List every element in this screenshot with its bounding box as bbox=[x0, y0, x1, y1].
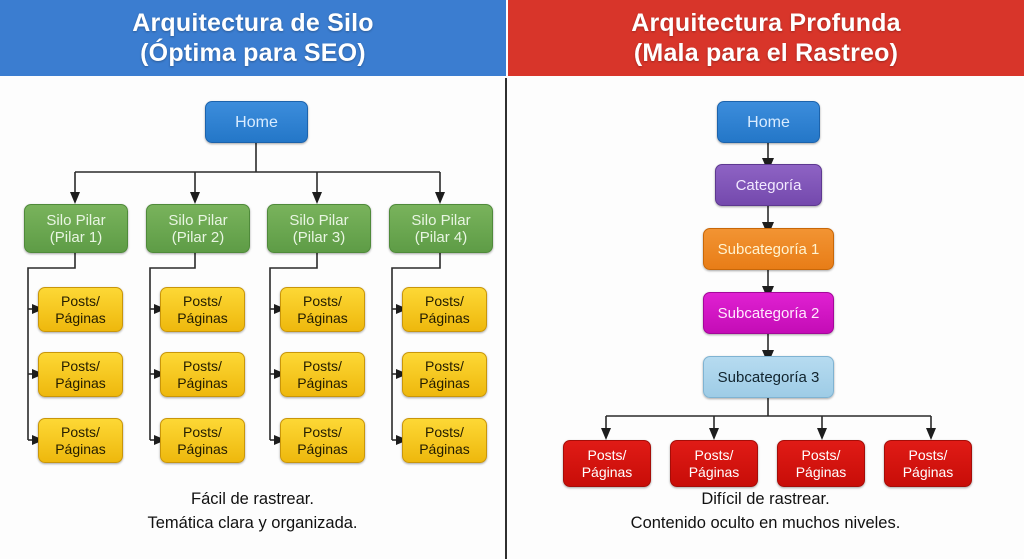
left-node-home-label: Home bbox=[235, 114, 278, 131]
silo-post-3-2-label: Posts/ Páginas bbox=[297, 358, 348, 392]
silo-post-3-2[interactable]: Posts/ Páginas bbox=[280, 352, 365, 397]
left-header-line1: Arquitectura de Silo bbox=[132, 8, 374, 38]
right-node-subcategoria-2-label: Subcategoría 2 bbox=[718, 305, 820, 322]
deep-post-4[interactable]: Posts/ Páginas bbox=[884, 440, 972, 487]
silo-post-2-2[interactable]: Posts/ Páginas bbox=[160, 352, 245, 397]
silo-post-4-2[interactable]: Posts/ Páginas bbox=[402, 352, 487, 397]
silo-post-2-3[interactable]: Posts/ Páginas bbox=[160, 418, 245, 463]
deep-post-3[interactable]: Posts/ Páginas bbox=[777, 440, 865, 487]
silo-post-4-2-label: Posts/ Páginas bbox=[419, 358, 470, 392]
left-node-home[interactable]: Home bbox=[205, 101, 308, 143]
deep-post-1-label: Posts/ Páginas bbox=[582, 447, 633, 481]
deep-architecture-panel: Home Categoría Subcategoría 1 Subcategor… bbox=[507, 78, 1024, 559]
silo-post-3-1[interactable]: Posts/ Páginas bbox=[280, 287, 365, 332]
right-header-line1: Arquitectura Profunda bbox=[631, 8, 901, 38]
silo-pillar-3-label: Silo Pilar (Pilar 3) bbox=[289, 212, 348, 246]
left-panel-caption: Fácil de rastrear. Temática clara y orga… bbox=[0, 487, 505, 535]
silo-post-1-2[interactable]: Posts/ Páginas bbox=[38, 352, 123, 397]
silo-post-1-3-label: Posts/ Páginas bbox=[55, 424, 106, 458]
silo-post-1-3[interactable]: Posts/ Páginas bbox=[38, 418, 123, 463]
left-header-line2: (Óptima para SEO) bbox=[132, 38, 374, 68]
silo-pillar-1[interactable]: Silo Pilar (Pilar 1) bbox=[24, 204, 128, 253]
silo-post-3-3-label: Posts/ Páginas bbox=[297, 424, 348, 458]
silo-pillar-4[interactable]: Silo Pilar (Pilar 4) bbox=[389, 204, 493, 253]
silo-post-3-1-label: Posts/ Páginas bbox=[297, 293, 348, 327]
silo-post-4-3-label: Posts/ Páginas bbox=[419, 424, 470, 458]
silo-post-3-3[interactable]: Posts/ Páginas bbox=[280, 418, 365, 463]
silo-post-2-3-label: Posts/ Páginas bbox=[177, 424, 228, 458]
deep-post-2-label: Posts/ Páginas bbox=[689, 447, 740, 481]
right-node-subcategoria-3[interactable]: Subcategoría 3 bbox=[703, 356, 834, 398]
silo-architecture-panel: Home Silo Pilar (Pilar 1) Silo Pilar (Pi… bbox=[0, 78, 505, 559]
silo-pillar-4-label: Silo Pilar (Pilar 4) bbox=[411, 212, 470, 246]
deep-post-3-label: Posts/ Páginas bbox=[796, 447, 847, 481]
silo-pillar-3[interactable]: Silo Pilar (Pilar 3) bbox=[267, 204, 371, 253]
right-panel-caption: Difícil de rastrear. Contenido oculto en… bbox=[507, 487, 1024, 535]
right-panel-header: Arquitectura Profunda (Mala para el Rast… bbox=[508, 0, 1024, 76]
right-node-home[interactable]: Home bbox=[717, 101, 820, 143]
silo-pillar-2-label: Silo Pilar (Pilar 2) bbox=[168, 212, 227, 246]
right-node-subcategoria-1-label: Subcategoría 1 bbox=[718, 241, 820, 258]
silo-post-1-1-label: Posts/ Páginas bbox=[55, 293, 106, 327]
left-panel-header: Arquitectura de Silo (Óptima para SEO) bbox=[0, 0, 506, 76]
deep-post-2[interactable]: Posts/ Páginas bbox=[670, 440, 758, 487]
diagram-canvas: Arquitectura de Silo (Óptima para SEO) A… bbox=[0, 0, 1024, 559]
deep-post-1[interactable]: Posts/ Páginas bbox=[563, 440, 651, 487]
silo-post-2-1[interactable]: Posts/ Páginas bbox=[160, 287, 245, 332]
right-node-subcategoria-3-label: Subcategoría 3 bbox=[718, 369, 820, 386]
silo-post-4-1[interactable]: Posts/ Páginas bbox=[402, 287, 487, 332]
silo-post-2-1-label: Posts/ Páginas bbox=[177, 293, 228, 327]
silo-post-4-1-label: Posts/ Páginas bbox=[419, 293, 470, 327]
silo-post-1-1[interactable]: Posts/ Páginas bbox=[38, 287, 123, 332]
silo-post-1-2-label: Posts/ Páginas bbox=[55, 358, 106, 392]
silo-pillar-1-label: Silo Pilar (Pilar 1) bbox=[46, 212, 105, 246]
right-node-categoria[interactable]: Categoría bbox=[715, 164, 822, 206]
silo-pillar-2[interactable]: Silo Pilar (Pilar 2) bbox=[146, 204, 250, 253]
silo-post-2-2-label: Posts/ Páginas bbox=[177, 358, 228, 392]
silo-post-4-3[interactable]: Posts/ Páginas bbox=[402, 418, 487, 463]
right-node-home-label: Home bbox=[747, 114, 790, 131]
right-node-categoria-label: Categoría bbox=[736, 177, 802, 194]
right-node-subcategoria-2[interactable]: Subcategoría 2 bbox=[703, 292, 834, 334]
right-header-line2: (Mala para el Rastreo) bbox=[631, 38, 901, 68]
right-node-subcategoria-1[interactable]: Subcategoría 1 bbox=[703, 228, 834, 270]
deep-post-4-label: Posts/ Páginas bbox=[903, 447, 954, 481]
